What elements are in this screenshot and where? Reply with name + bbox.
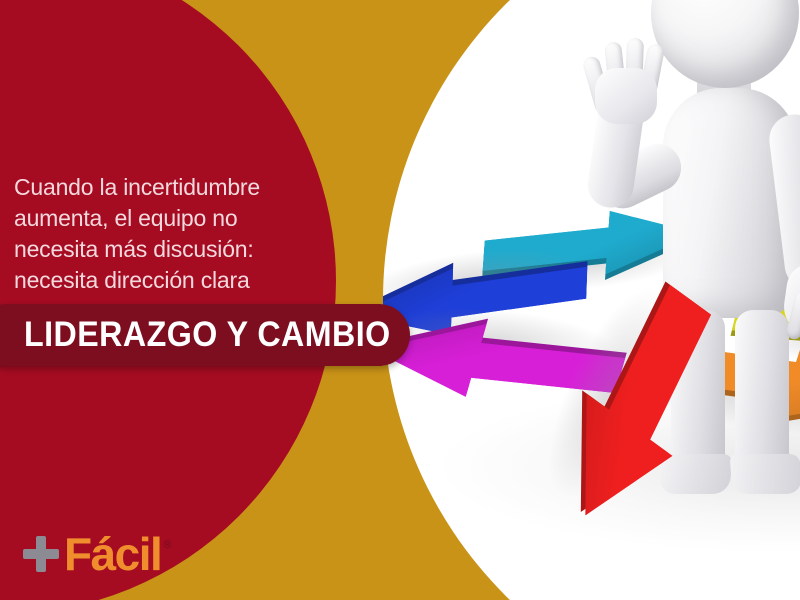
right-foot xyxy=(730,454,800,494)
headline-banner: LIDERAZGO Y CAMBIO xyxy=(0,304,410,366)
poster-canvas: Cuando la incertidumbre aumenta, el equi… xyxy=(0,0,800,600)
brand-logo: Fácil ® xyxy=(20,531,171,577)
logo-wordmark: Fácil xyxy=(64,531,161,577)
plus-icon xyxy=(20,533,62,575)
quote-line-4: necesita dirección clara xyxy=(14,265,314,296)
quote-line-2: aumenta, el equipo no xyxy=(14,203,314,234)
quote-line-1: Cuando la incertidumbre xyxy=(14,172,314,203)
head xyxy=(651,0,799,88)
quote-line-3: necesita más discusión: xyxy=(14,234,314,265)
headline-text: LIDERAZGO Y CAMBIO xyxy=(24,315,391,355)
illustration-scene xyxy=(383,0,800,600)
quote-block: Cuando la incertidumbre aumenta, el equi… xyxy=(14,172,314,296)
registered-trademark-icon: ® xyxy=(163,539,171,551)
left-hand xyxy=(585,34,669,124)
